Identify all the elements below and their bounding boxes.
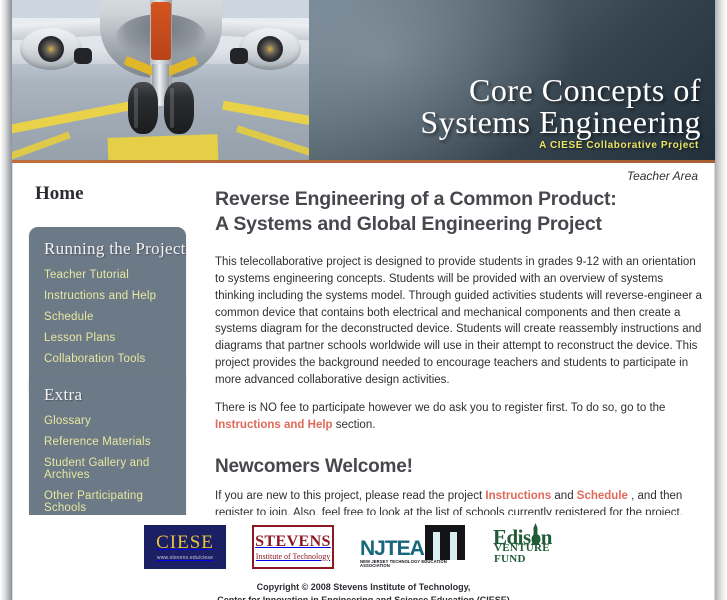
site-header: Core Concepts of Systems Engineering A C… — [12, 0, 715, 160]
main-column: Reverse Engineering of a Common Product:… — [203, 163, 716, 560]
page-root: Core Concepts of Systems Engineering A C… — [0, 0, 727, 600]
wing-gear-icon — [74, 48, 92, 64]
link-instructions-and-help[interactable]: Instructions and Help — [215, 419, 333, 431]
page-gutter-left — [0, 0, 12, 600]
sidebar-box-heading: Extra — [29, 385, 186, 405]
sidebar-box-heading: Running the Project — [29, 239, 186, 259]
page-title: Reverse Engineering of a Common Product:… — [215, 187, 704, 237]
njtea-logo-wordmark: NJTEA — [360, 538, 424, 559]
sidebar-item-other-participating-schools[interactable]: Other Participating Schools — [29, 490, 186, 514]
tarmac-line-icon — [222, 101, 309, 132]
tire-icon — [128, 82, 158, 134]
airplane-landing-gear-photo — [12, 0, 309, 160]
link-instructions[interactable]: Instructions — [485, 490, 551, 502]
sidebar-item-teacher-tutorial[interactable]: Teacher Tutorial — [29, 269, 186, 281]
sidebar-item-collaboration-tools[interactable]: Collaboration Tools — [29, 353, 186, 365]
sidebar-item-schedule[interactable]: Schedule — [29, 311, 186, 323]
page-title-line-1: Reverse Engineering of a Common Product: — [215, 188, 617, 210]
ciese-logo-wordmark: CIESE — [156, 533, 214, 552]
edison-logo-tagline: VENTURE FUND — [494, 543, 583, 565]
engine-fan-icon — [38, 36, 64, 62]
tire-icon — [164, 82, 194, 134]
ciese-logo-url: www.stevens.edu/ciese — [157, 555, 213, 561]
site-subtitle: A CIESE Collaborative Project — [539, 140, 699, 151]
engine-fan-icon — [257, 36, 283, 62]
bridge-icon — [425, 525, 465, 560]
copyright-line-2: Center for Innovation in Engineering and… — [13, 594, 714, 600]
page-gutter-right — [715, 0, 727, 600]
jet-engine-icon — [20, 28, 82, 70]
landing-gear-orange-actuator — [151, 2, 171, 60]
sidebar-item-home[interactable]: Home — [35, 183, 84, 205]
ciese-logo[interactable]: CIESE www.stevens.edu/ciese — [144, 525, 226, 569]
tire-highlight — [134, 88, 138, 128]
sidebar-item-instructions-and-help[interactable]: Instructions and Help — [29, 290, 186, 302]
njtea-logo[interactable]: NJTEA NEW JERSEY TECHNOLOGY EDUCATION AS… — [360, 525, 465, 569]
jet-engine-icon — [239, 28, 301, 70]
stevens-logo-wordmark: STEVENS — [255, 534, 331, 550]
stevens-logo[interactable]: STEVENS Institute of Technology — [252, 525, 334, 569]
fee-text-before: There is NO fee to participate however w… — [215, 402, 665, 414]
newcomers-text-mid: and — [551, 490, 577, 502]
sidebar-item-lesson-plans[interactable]: Lesson Plans — [29, 332, 186, 344]
site-title-line-2: Systems Engineering — [420, 104, 701, 141]
tarmac-line-icon — [108, 134, 219, 160]
njtea-logo-tagline: NEW JERSEY TECHNOLOGY EDUCATION ASSOCIAT… — [360, 560, 465, 568]
site-footer: CIESE www.stevens.edu/ciese STEVENS Inst… — [12, 515, 715, 600]
tarmac-line-icon — [12, 132, 71, 160]
tarmac-line-icon — [12, 102, 130, 136]
newcomers-text-before: If you are new to this project, please r… — [215, 490, 485, 502]
fee-text-after: section. — [333, 419, 376, 431]
sponsor-logos: CIESE www.stevens.edu/ciese STEVENS Inst… — [13, 525, 714, 569]
intro-paragraph: This telecollaborative project is design… — [215, 254, 704, 389]
fee-paragraph: There is NO fee to participate however w… — [215, 400, 704, 434]
wing-gear-icon — [230, 48, 248, 64]
header-title-panel: Core Concepts of Systems Engineering A C… — [309, 0, 715, 160]
tarmac-line-icon — [236, 125, 309, 159]
edison-venture-fund-logo[interactable]: Edison VENTURE FUND — [491, 525, 583, 569]
newcomers-heading: Newcomers Welcome! — [215, 456, 704, 478]
stevens-logo-tagline: Institute of Technology — [256, 553, 330, 561]
link-schedule[interactable]: Schedule — [577, 490, 628, 502]
copyright-notice: Copyright © 2008 Stevens Institute of Te… — [13, 581, 714, 600]
sidebar-item-glossary[interactable]: Glossary — [29, 415, 186, 427]
sidebar-item-student-gallery-and-archives[interactable]: Student Gallery and Archives — [29, 457, 186, 481]
sidebar-item-reference-materials[interactable]: Reference Materials — [29, 436, 186, 448]
copyright-line-1: Copyright © 2008 Stevens Institute of Te… — [13, 581, 714, 594]
tire-highlight — [170, 88, 174, 128]
page-title-line-2: A Systems and Global Engineering Project — [215, 213, 602, 235]
